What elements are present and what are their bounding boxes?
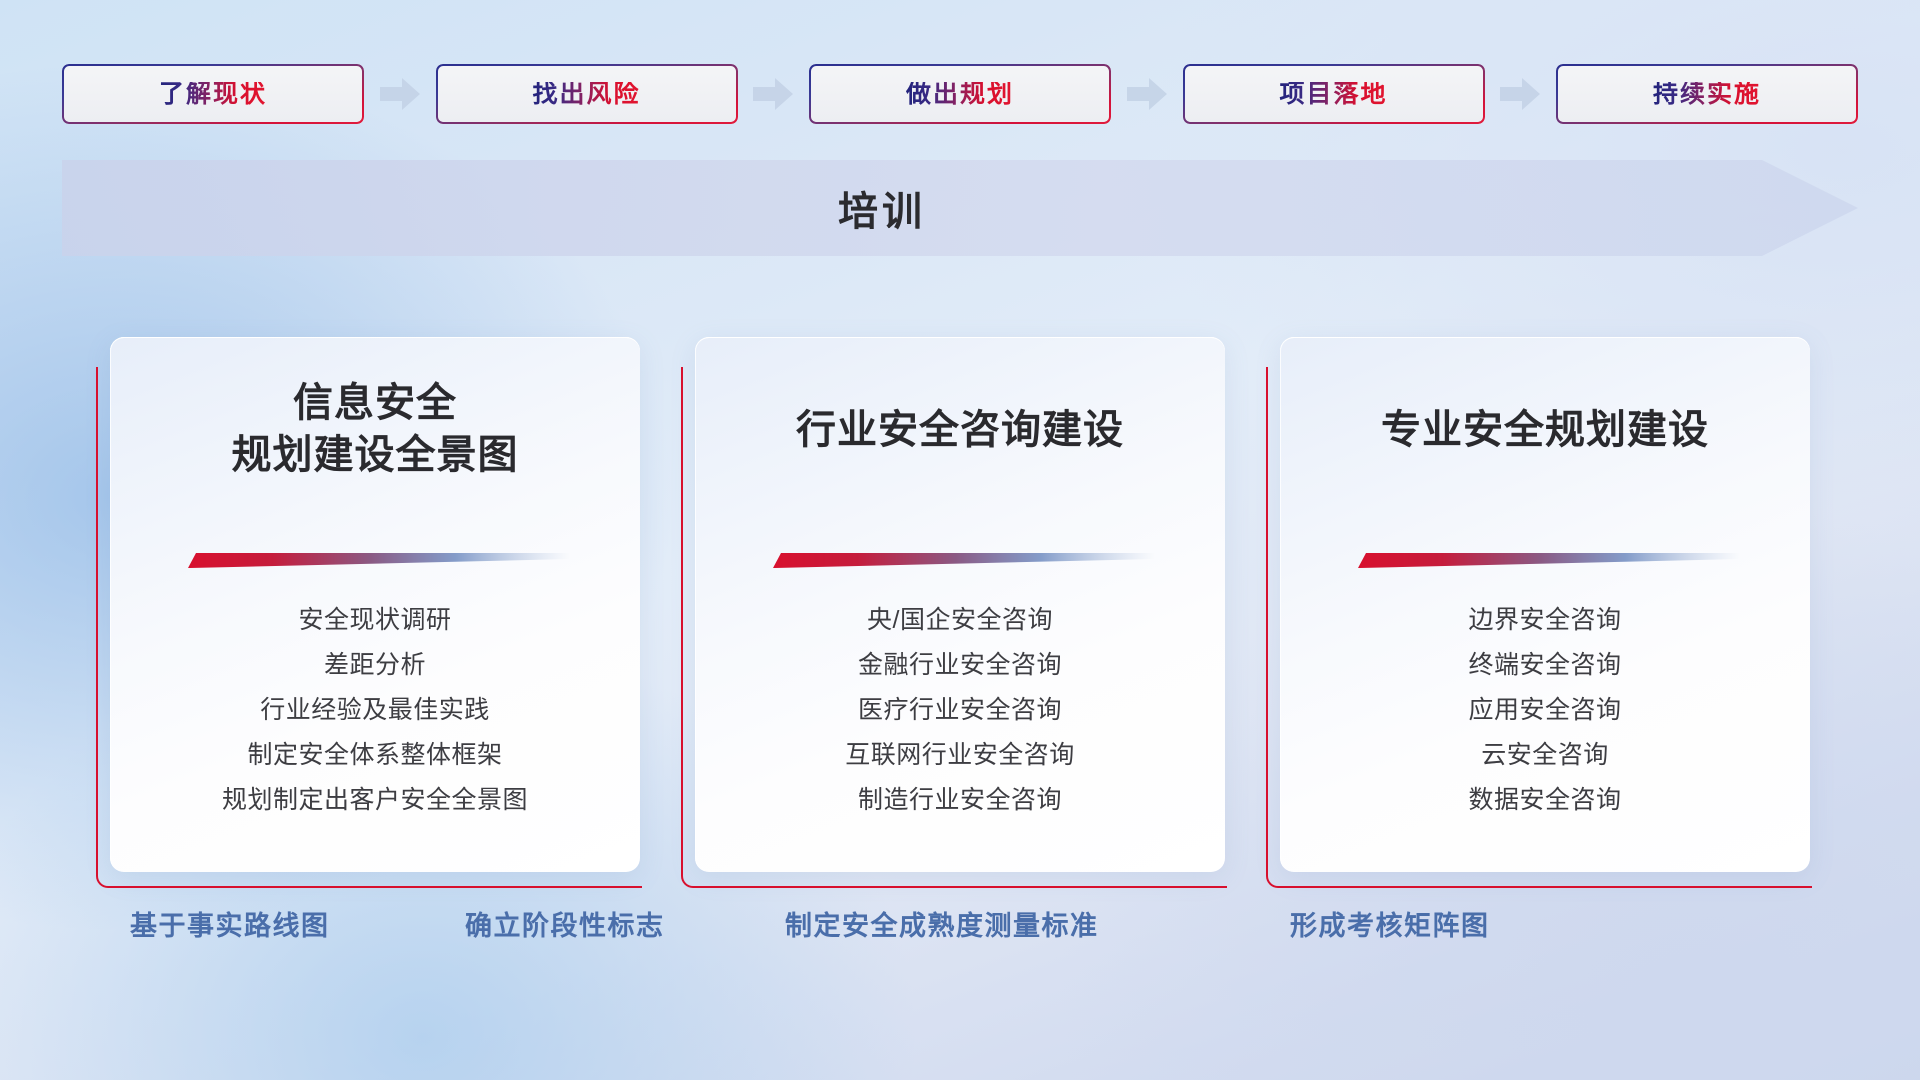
- footer-label-1: 基于事实路线图: [130, 896, 330, 956]
- card-list-item[interactable]: 边界安全咨询: [1314, 598, 1776, 643]
- arrow-right-icon: [380, 77, 420, 111]
- footer-label-row: 基于事实路线图确立阶段性标志制定安全成熟度测量标准形成考核矩阵图: [0, 896, 1920, 956]
- arrow-right-icon: [1500, 77, 1540, 111]
- gradient-divider: [765, 553, 1155, 568]
- process-step-4[interactable]: 项目落地: [1183, 64, 1485, 124]
- footer-label-3: 制定安全成熟度测量标准: [785, 896, 1099, 956]
- banner-title: 培训: [62, 160, 1702, 256]
- process-step-3[interactable]: 做出规划: [809, 64, 1111, 124]
- card-list-item[interactable]: 医疗行业安全咨询: [729, 688, 1191, 733]
- card-item-list: 央/国企安全咨询金融行业安全咨询医疗行业安全咨询互联网行业安全咨询制造行业安全咨…: [729, 568, 1191, 823]
- footer-label-2: 确立阶段性标志: [465, 896, 665, 956]
- card-list-item[interactable]: 金融行业安全咨询: [729, 643, 1191, 688]
- process-step-label: 了解现状: [159, 82, 267, 107]
- arrow-right-icon: [1127, 77, 1167, 111]
- service-card-1[interactable]: 信息安全 规划建设全景图安全现状调研差距分析行业经验及最佳实践制定安全体系整体框…: [110, 337, 640, 872]
- training-banner: 培训: [62, 160, 1858, 256]
- process-step-label: 持续实施: [1653, 82, 1761, 107]
- card-title: 行业安全咨询建设: [796, 377, 1124, 456]
- process-step-5[interactable]: 持续实施: [1556, 64, 1858, 124]
- gradient-divider: [1350, 553, 1740, 568]
- card-list-item[interactable]: 云安全咨询: [1314, 733, 1776, 778]
- card-list-item[interactable]: 终端安全咨询: [1314, 643, 1776, 688]
- card-list-item[interactable]: 央/国企安全咨询: [729, 598, 1191, 643]
- card-list-item[interactable]: 制造行业安全咨询: [729, 778, 1191, 823]
- card-item-list: 安全现状调研差距分析行业经验及最佳实践制定安全体系整体框架规划制定出客户安全全景…: [144, 568, 606, 823]
- card-list-item[interactable]: 安全现状调研: [144, 598, 606, 643]
- service-card-2[interactable]: 行业安全咨询建设央/国企安全咨询金融行业安全咨询医疗行业安全咨询互联网行业安全咨…: [695, 337, 1225, 872]
- service-cards-row: 信息安全 规划建设全景图安全现状调研差距分析行业经验及最佳实践制定安全体系整体框…: [110, 337, 1810, 872]
- process-step-2[interactable]: 找出风险: [436, 64, 738, 124]
- card-list-item[interactable]: 应用安全咨询: [1314, 688, 1776, 733]
- arrow-right-icon: [753, 77, 793, 111]
- process-step-label: 做出规划: [906, 82, 1014, 107]
- card-item-list: 边界安全咨询终端安全咨询应用安全咨询云安全咨询数据安全咨询: [1314, 568, 1776, 823]
- card-title: 信息安全 规划建设全景图: [232, 377, 519, 481]
- card-list-item[interactable]: 互联网行业安全咨询: [729, 733, 1191, 778]
- card-title: 专业安全规划建设: [1381, 377, 1709, 456]
- service-card-3[interactable]: 专业安全规划建设边界安全咨询终端安全咨询应用安全咨询云安全咨询数据安全咨询: [1280, 337, 1810, 872]
- card-list-item[interactable]: 数据安全咨询: [1314, 778, 1776, 823]
- process-step-label: 项目落地: [1279, 82, 1387, 107]
- card-list-item[interactable]: 差距分析: [144, 643, 606, 688]
- process-step-label: 找出风险: [532, 82, 640, 107]
- footer-label-4: 形成考核矩阵图: [1290, 896, 1490, 956]
- gradient-divider: [180, 553, 570, 568]
- card-list-item[interactable]: 规划制定出客户安全全景图: [144, 778, 606, 823]
- card-list-item[interactable]: 行业经验及最佳实践: [144, 688, 606, 733]
- process-step-row: 了解现状找出风险做出规划项目落地持续实施: [62, 64, 1858, 124]
- process-step-1[interactable]: 了解现状: [62, 64, 364, 124]
- card-list-item[interactable]: 制定安全体系整体框架: [144, 733, 606, 778]
